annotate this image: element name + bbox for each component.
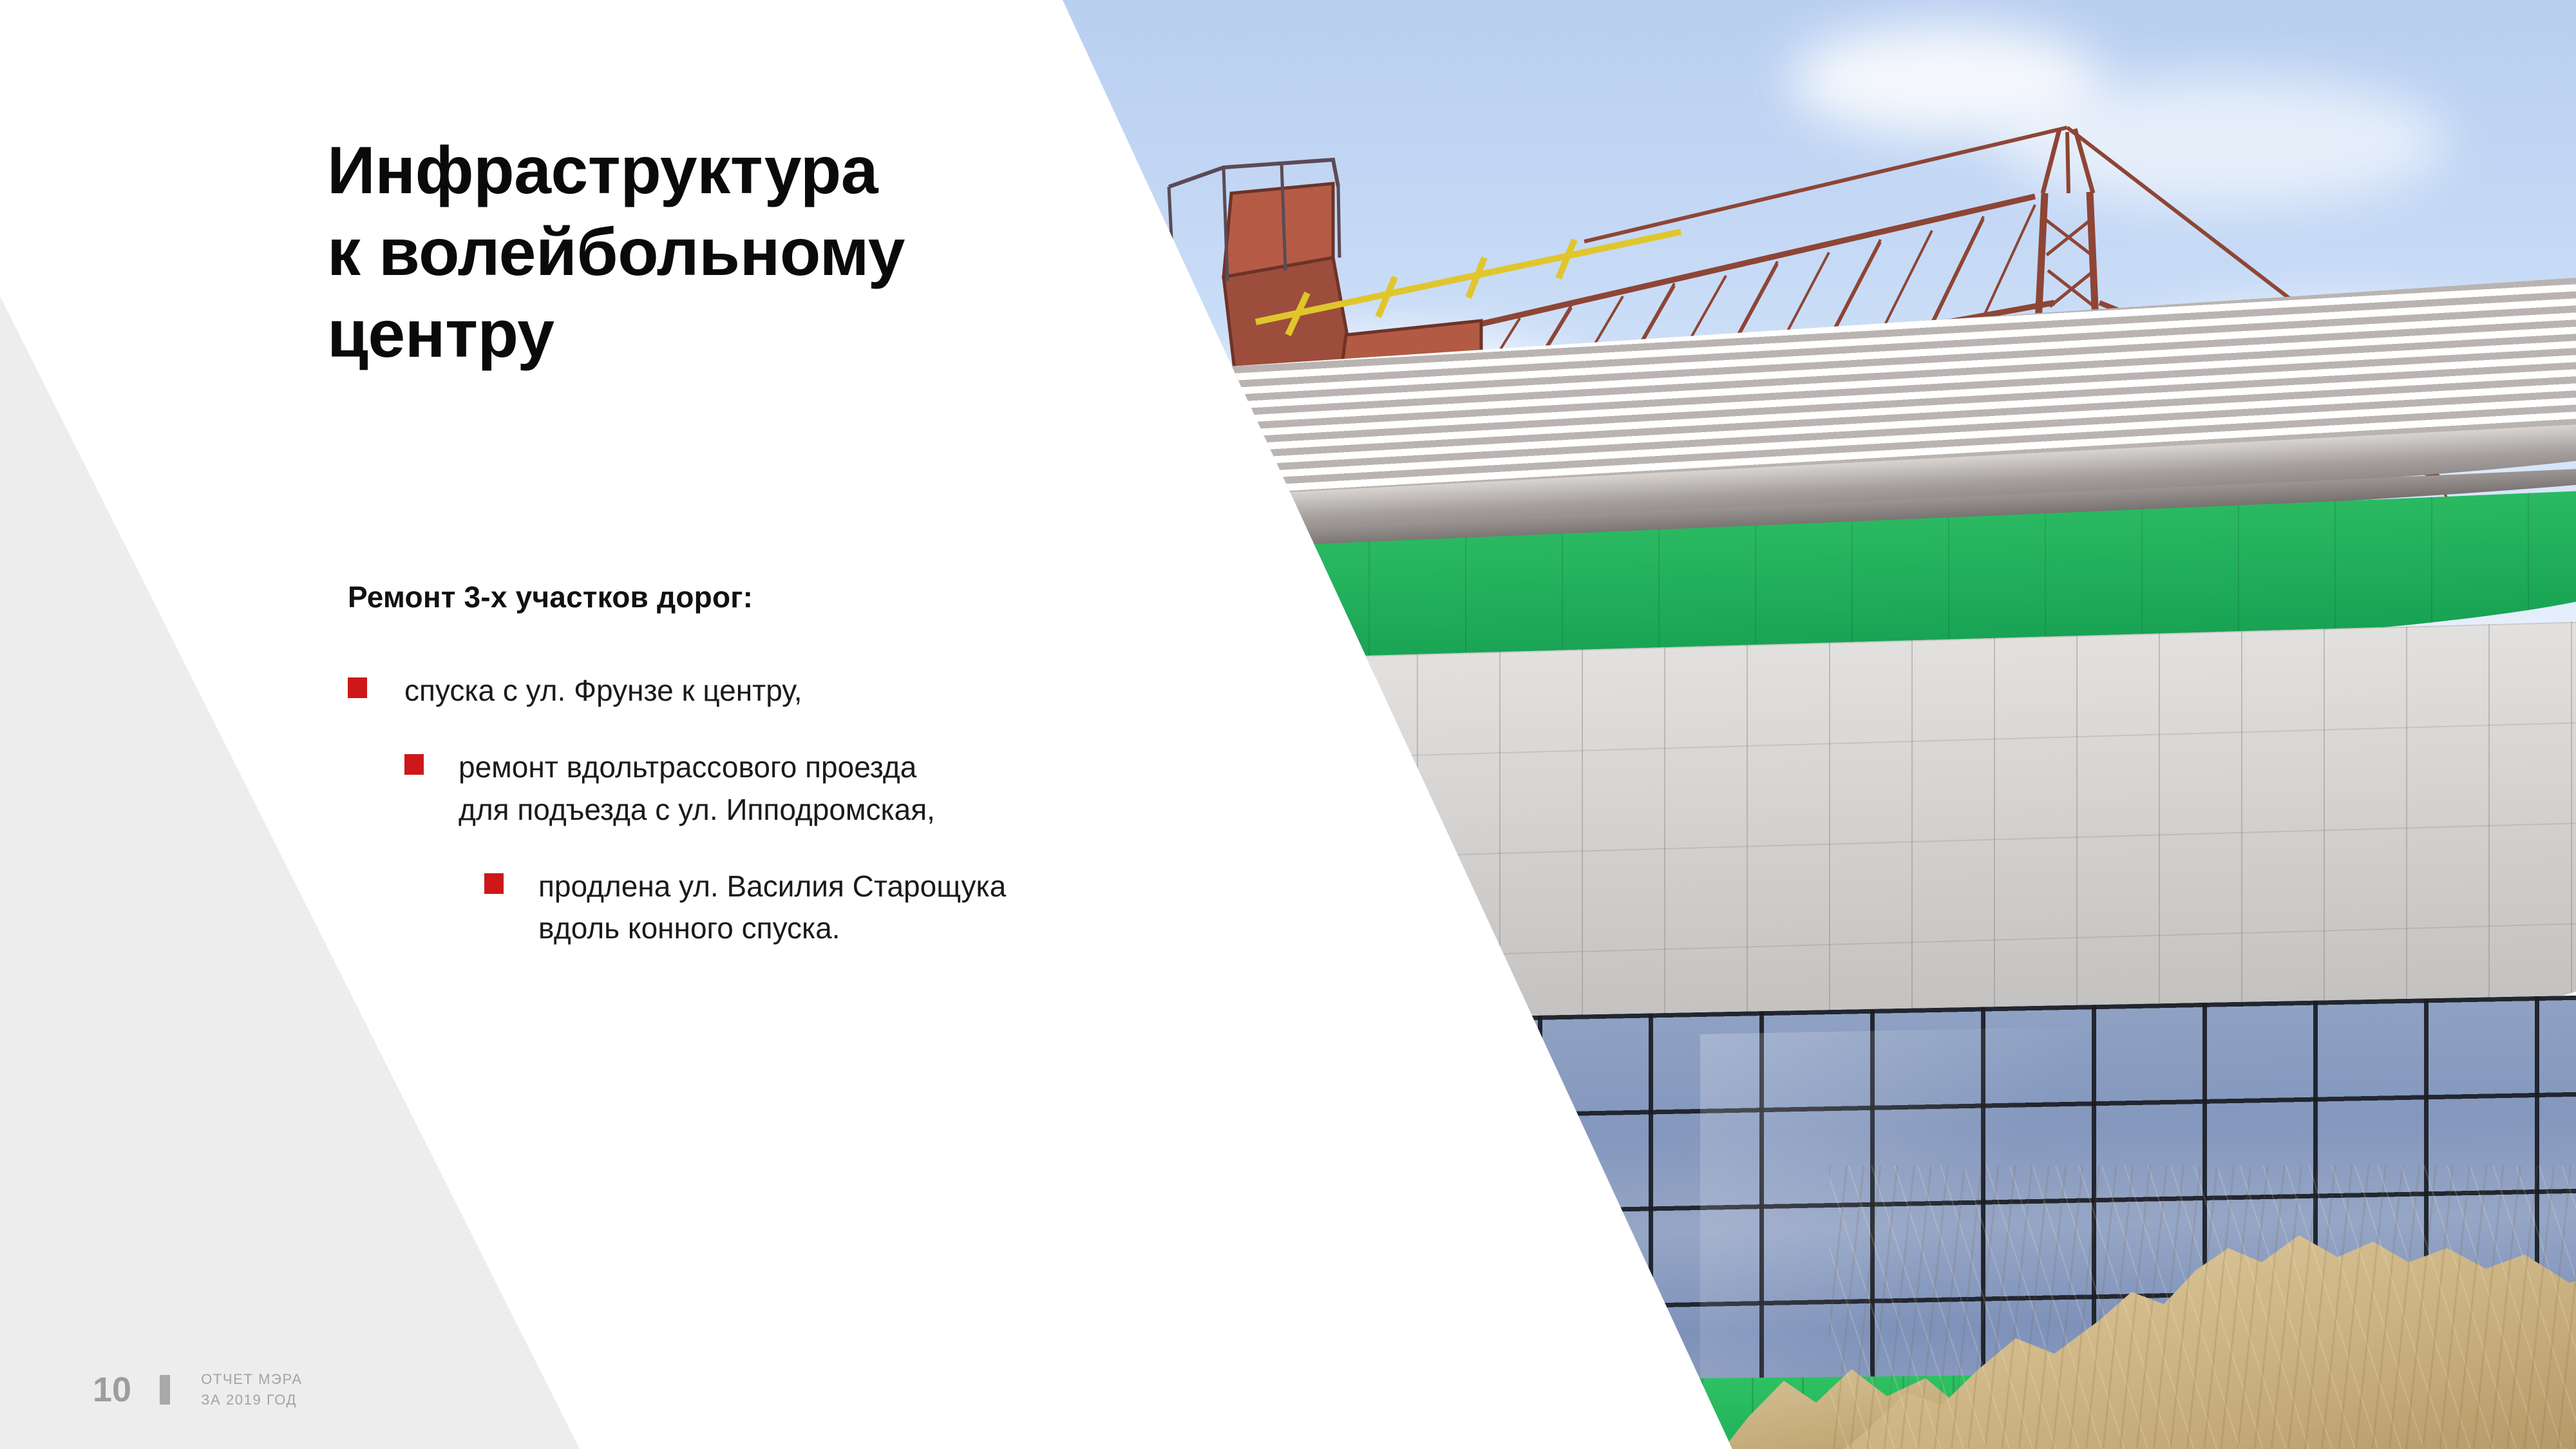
slide-subtitle: Ремонт 3-х участков дорог: (348, 580, 753, 614)
list-item-label: ремонт вдольтрассового проезда для подъе… (459, 746, 1095, 831)
slide-footer: 10 ОТЧЕТ МЭРА ЗА 2019 ГОД (93, 1369, 303, 1410)
footer-divider-bar (160, 1375, 170, 1405)
list-item: продлена ул. Василия Старощука вдоль кон… (0, 866, 1095, 950)
construction-site-photo (1030, 0, 2576, 1449)
list-item: ремонт вдольтрассового проезда для подъе… (0, 746, 1095, 831)
red-square-bullet-icon (348, 677, 367, 698)
list-item-label: спуска с ул. Фрунзе к центру, (404, 670, 1095, 712)
list-item: спуска с ул. Фрунзе к центру, (0, 670, 1095, 712)
page-number: 10 (93, 1372, 131, 1407)
red-square-bullet-icon (484, 873, 504, 894)
presentation-slide: Инфраструктура к волейбольному центру Ре… (0, 0, 2576, 1449)
bullet-list: спуска с ул. Фрунзе к центру, ремонт вдо… (0, 670, 1095, 985)
grey-cladding-band (1087, 620, 2576, 1063)
slide-title: Инфраструктура к волейбольному центру (327, 130, 1087, 375)
photo-panel (1030, 0, 2576, 1449)
footer-caption: ОТЧЕТ МЭРА ЗА 2019 ГОД (201, 1369, 302, 1410)
list-item-label: продлена ул. Василия Старощука вдоль кон… (538, 866, 1095, 950)
red-square-bullet-icon (404, 754, 424, 775)
